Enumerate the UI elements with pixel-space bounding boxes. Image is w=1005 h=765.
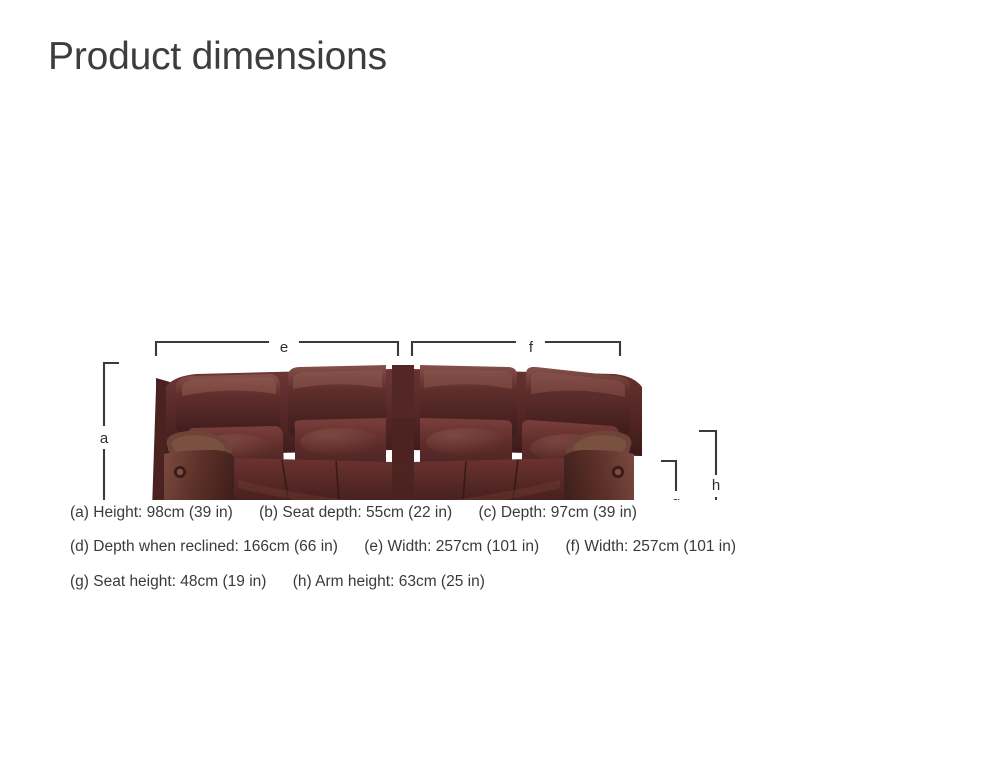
page-title: Product dimensions (48, 36, 387, 79)
dimension-legend-row: (d) Depth when reclined: 166cm (66 in) (… (70, 539, 930, 555)
marker-bracket-e (156, 342, 398, 355)
marker-bracket-f (412, 342, 620, 355)
dimension-item-g: (g) Seat height: 48cm (19 in) (70, 574, 266, 590)
bracket-label-g: g (672, 494, 680, 500)
sofa-illustration (149, 365, 649, 500)
dimension-item-a: (a) Height: 98cm (39 in) (70, 505, 233, 521)
dimension-item-b: (b) Seat depth: 55cm (22 in) (259, 505, 452, 521)
dimension-diagram-svg: e f a b c d g h (0, 150, 1005, 500)
dimension-item-c: (c) Depth: 97cm (39 in) (478, 505, 637, 521)
dimension-legend-row: (g) Seat height: 48cm (19 in) (h) Arm he… (70, 574, 930, 590)
bracket-label-e: e (280, 339, 288, 356)
dimension-item-h: (h) Arm height: 63cm (25 in) (293, 574, 485, 590)
dimension-item-e: (e) Width: 257cm (101 in) (364, 539, 539, 555)
dimension-legend: (a) Height: 98cm (39 in) (b) Seat depth:… (70, 505, 930, 608)
bracket-label-h: h (712, 477, 720, 494)
dimension-legend-row: (a) Height: 98cm (39 in) (b) Seat depth:… (70, 505, 930, 521)
bracket-label-a: a (100, 430, 109, 447)
product-dimension-diagram: e f a b c d g h (0, 150, 1005, 500)
dimension-item-d: (d) Depth when reclined: 166cm (66 in) (70, 539, 338, 555)
bracket-label-f: f (529, 339, 534, 356)
dimension-item-f: (f) Width: 257cm (101 in) (565, 539, 736, 555)
